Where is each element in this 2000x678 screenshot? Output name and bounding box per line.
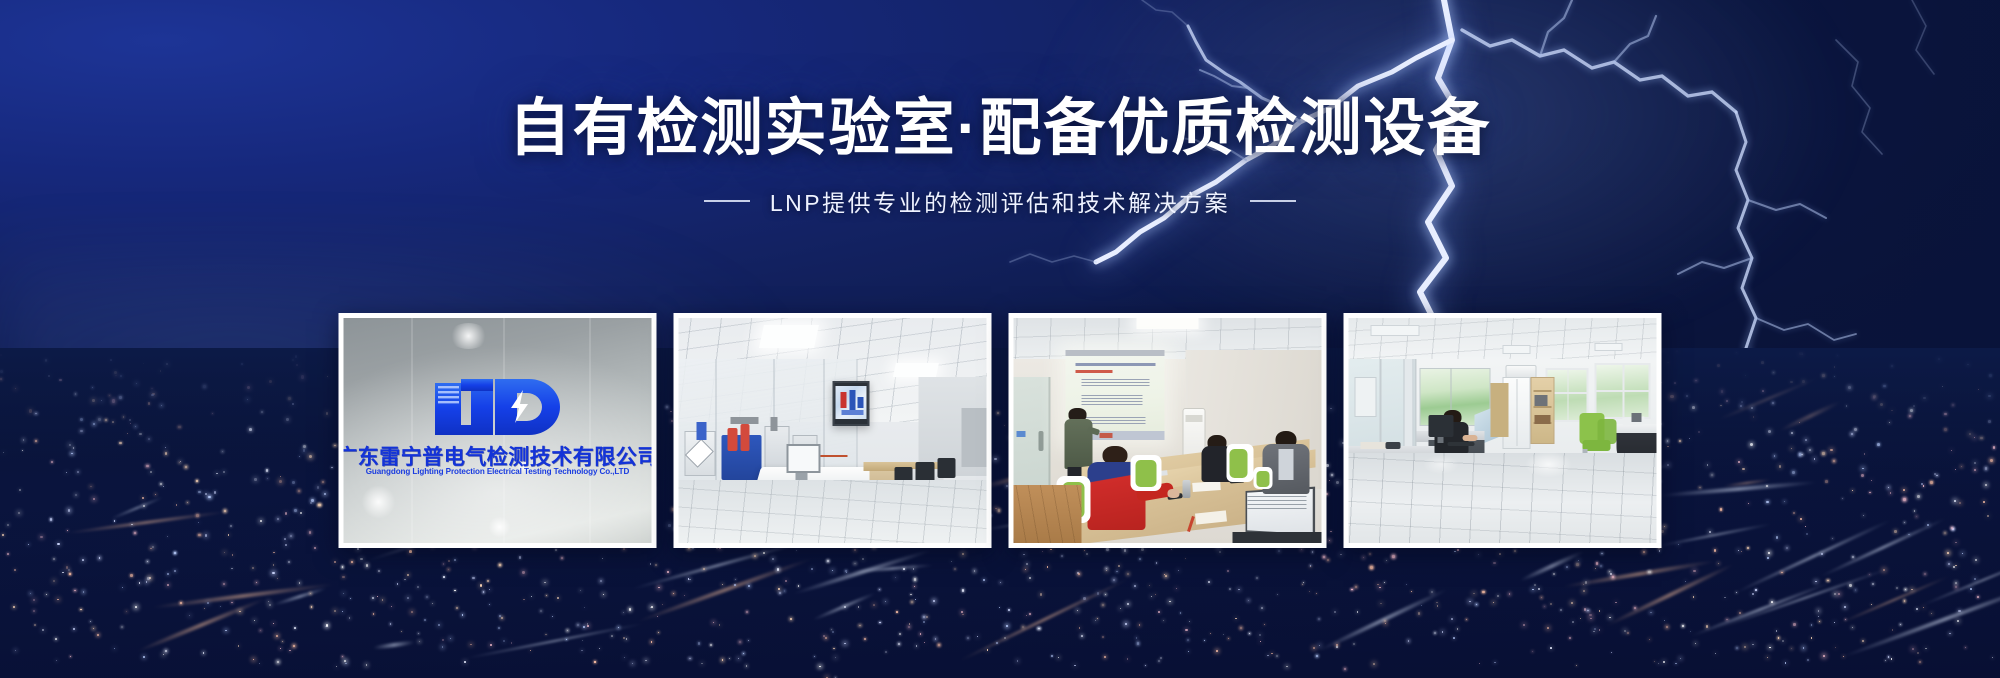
gallery-photo-company-sign[interactable]: 广东雷宁普电气检测技术有限公司 Guangdong Lighting Prote… [339, 313, 657, 548]
photo-image-meeting-room [1014, 318, 1322, 543]
gallery-photo-office[interactable] [1344, 313, 1662, 548]
gallery-photo-meeting-room[interactable] [1009, 313, 1327, 548]
hero-banner: 自有检测实验室·配备优质检测设备 LNP提供专业的检测评估和技术解决方案 [0, 0, 2000, 678]
headline-block: 自有检测实验室·配备优质检测设备 LNP提供专业的检测评估和技术解决方案 [0, 96, 2000, 218]
subtitle-rule-left [704, 200, 750, 202]
subtitle-rule-right [1250, 200, 1296, 202]
page-subtitle: LNP提供专业的检测评估和技术解决方案 [770, 184, 1230, 218]
photo-image-office [1349, 318, 1657, 543]
photo-image-testing-lab [679, 318, 987, 543]
subtitle-row: LNP提供专业的检测评估和技术解决方案 [0, 184, 2000, 218]
page-title: 自有检测实验室·配备优质检测设备 [0, 96, 2000, 162]
company-name-en: Guangdong Lighting Protection Electrical… [366, 467, 630, 476]
photo-gallery: 广东雷宁普电气检测技术有限公司 Guangdong Lighting Prote… [339, 313, 1662, 548]
lnp-logo-icon [431, 377, 564, 439]
photo-image-company-sign: 广东雷宁普电气检测技术有限公司 Guangdong Lighting Prote… [344, 318, 652, 543]
gallery-photo-testing-lab[interactable] [674, 313, 992, 548]
